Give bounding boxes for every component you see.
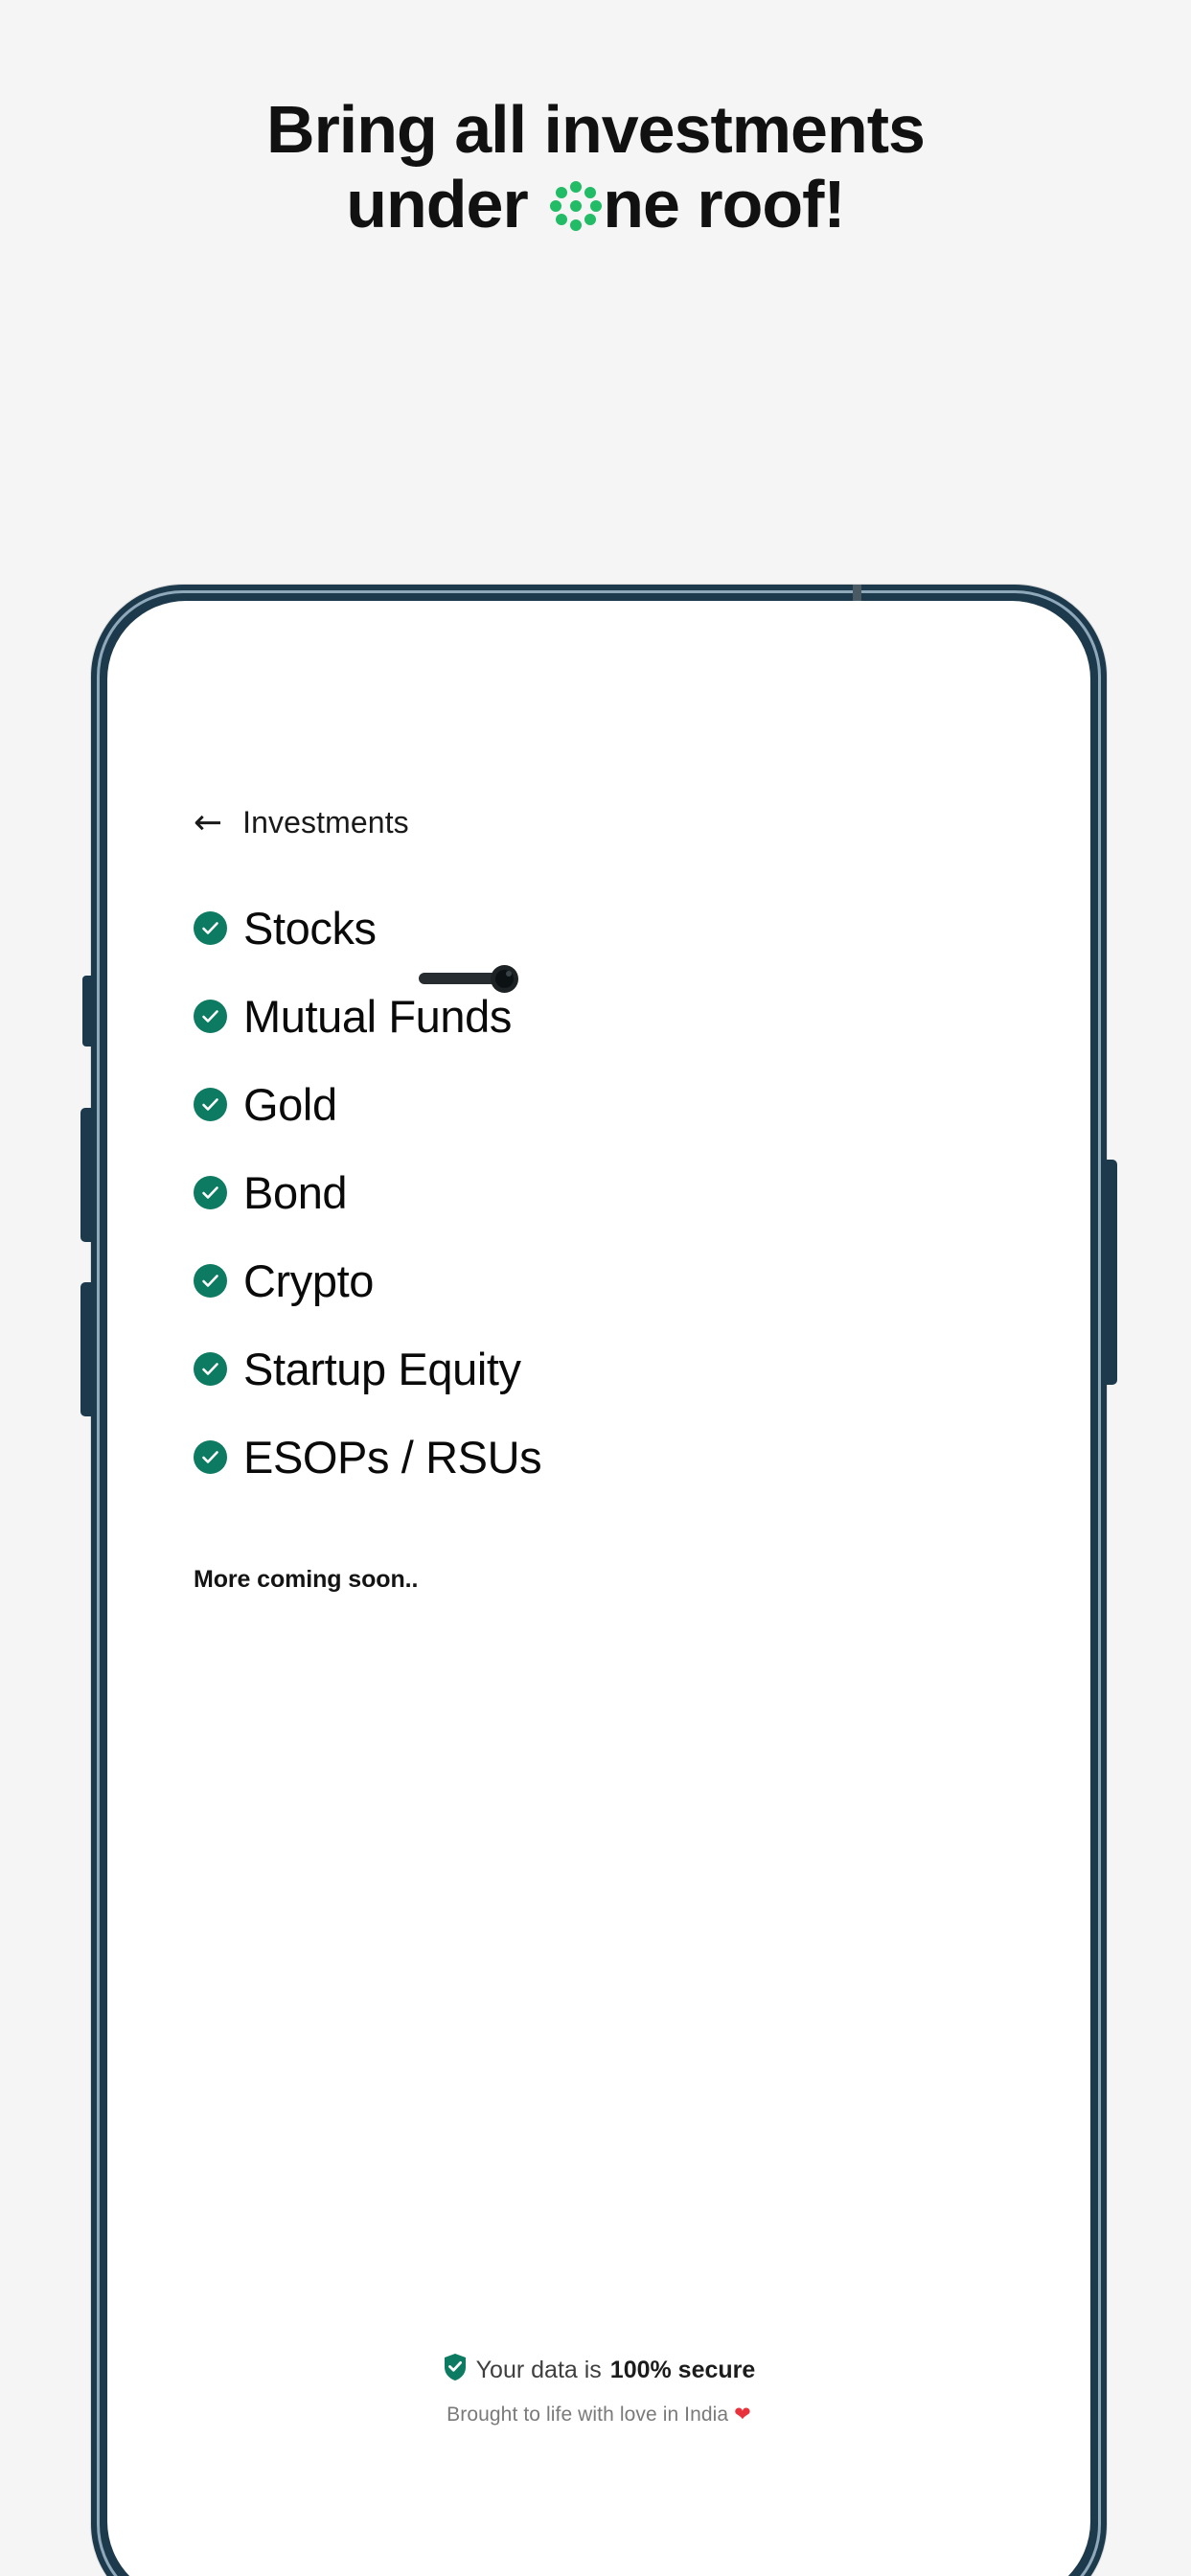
list-item[interactable]: Startup Equity (194, 1324, 1037, 1413)
shield-check-icon (443, 2353, 468, 2388)
check-circle-icon (194, 1000, 227, 1033)
check-circle-icon (194, 911, 227, 945)
list-item-label: Stocks (243, 902, 377, 954)
heart-icon: ❤ (734, 2403, 751, 2426)
list-item[interactable]: ESOPs / RSUs (194, 1413, 1037, 1501)
app-header-title: Investments (242, 805, 409, 840)
phone-screen: ← Investments Stocks Mutual Funds (107, 601, 1090, 2576)
list-item-label: Bond (243, 1166, 347, 1219)
list-item-label: Mutual Funds (243, 990, 512, 1043)
list-item-label: ESOPs / RSUs (243, 1431, 541, 1483)
credit-line: Brought to life with love in India ❤ (107, 2403, 1090, 2426)
more-coming-soon-label: More coming soon.. (194, 1566, 418, 1594)
check-circle-icon (194, 1352, 227, 1386)
screen-footer: Your data is 100% secure Brought to life… (107, 2353, 1090, 2426)
list-item[interactable]: Bond (194, 1148, 1037, 1236)
app-header: ← Investments (107, 805, 1090, 840)
list-item-label: Gold (243, 1078, 337, 1131)
phone-mockup: ← Investments Stocks Mutual Funds (91, 585, 1107, 2576)
headline-line-2-after: ne roof! (603, 167, 845, 241)
security-text-prefix: Your data is (476, 2357, 602, 2384)
silent-switch-button[interactable] (82, 976, 92, 1046)
list-item[interactable]: Gold (194, 1060, 1037, 1148)
headline-line-2-before: under (346, 167, 527, 241)
list-item[interactable]: Crypto (194, 1236, 1037, 1324)
volume-down-button[interactable] (80, 1282, 92, 1416)
page-title: Bring all investments under ne roof! (0, 92, 1191, 242)
headline-line-2: under ne roof! (0, 167, 1191, 241)
security-text-emphasis: 100% secure (610, 2357, 756, 2384)
security-badge: Your data is 100% secure (107, 2353, 1090, 2388)
back-arrow-icon[interactable]: ← (194, 806, 222, 840)
promo-page: Bring all investments under ne roof! ← I… (0, 0, 1191, 2576)
investments-list: Stocks Mutual Funds Gold (194, 884, 1037, 1501)
list-item-label: Crypto (243, 1254, 374, 1307)
list-item[interactable]: Stocks (194, 884, 1037, 972)
list-item-label: Startup Equity (243, 1343, 521, 1395)
headline-line-1: Bring all investments (0, 92, 1191, 167)
volume-up-button[interactable] (80, 1108, 92, 1242)
check-circle-icon (194, 1176, 227, 1209)
power-button[interactable] (1106, 1160, 1117, 1385)
check-circle-icon (194, 1264, 227, 1298)
credit-text: Brought to life with love in India (447, 2403, 734, 2426)
check-circle-icon (194, 1440, 227, 1474)
check-circle-icon (194, 1088, 227, 1121)
list-item[interactable]: Mutual Funds (194, 972, 1037, 1060)
brand-dots-logo-icon (551, 181, 601, 231)
